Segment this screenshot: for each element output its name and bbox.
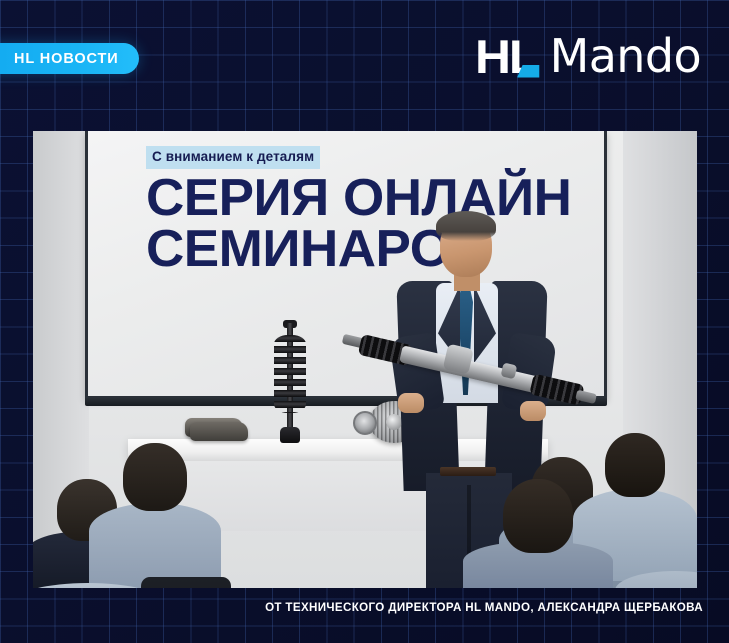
brake-pads-part: [185, 418, 247, 442]
slide-eyebrow-text: С вниманием к деталям: [152, 149, 314, 164]
shock-bottom-mount: [280, 427, 300, 443]
logo-hl-text: HL: [475, 33, 537, 80]
hl-mando-logo: HL Mando: [475, 30, 701, 82]
news-badge: HL НОВОСТИ: [0, 43, 139, 74]
presenter-hair: [436, 211, 496, 241]
audience-head: [123, 443, 187, 511]
steering-rack-boot-right: [529, 374, 584, 406]
shock-absorber-part: [271, 323, 309, 443]
audience-member: [463, 541, 613, 588]
audience-member: [89, 503, 221, 588]
news-badge-label: HL НОВОСТИ: [14, 51, 119, 67]
chair-back: [141, 577, 231, 588]
footer-caption-text: ОТ ТЕХНИЧЕСКОГО ДИРЕКТОРА HL MANDO, АЛЕК…: [265, 601, 703, 614]
slide-eyebrow: С вниманием к деталям: [146, 146, 320, 169]
brake-pad-2: [190, 422, 248, 441]
footer-caption: ОТ ТЕХНИЧЕСКОГО ДИРЕКТОРА HL MANDO, АЛЕК…: [0, 598, 703, 616]
presenter-belt: [440, 467, 496, 476]
promo-poster: HL НОВОСТИ HL Mando С вниманием к деталя…: [0, 0, 729, 643]
audience-head: [503, 479, 573, 553]
alternator-pulley: [353, 411, 377, 435]
seminar-photo: С вниманием к деталям СЕРИЯ ОНЛАЙН СЕМИН…: [33, 131, 697, 588]
presenter-hand-left: [398, 393, 424, 413]
shock-coil-spring: [274, 335, 306, 413]
logo-accent-shape: [517, 65, 539, 78]
logo-mando-text: Mando: [550, 33, 701, 79]
audience-head: [605, 433, 665, 497]
